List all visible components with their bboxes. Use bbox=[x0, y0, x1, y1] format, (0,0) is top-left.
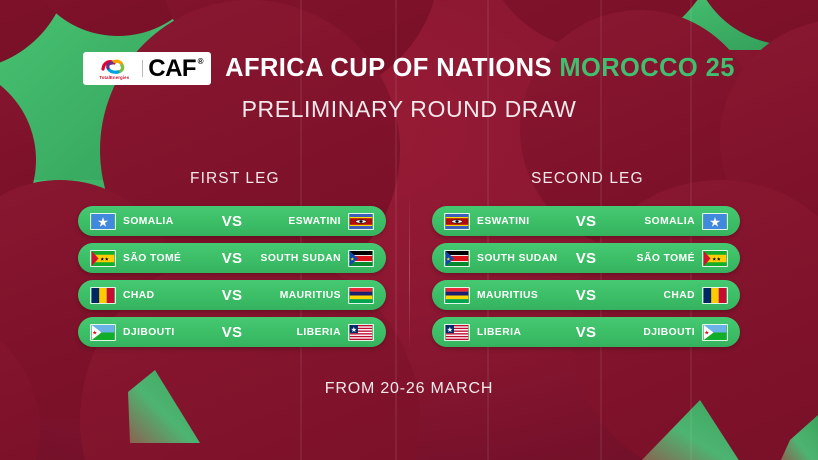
fixture-row[interactable]: MAURITIUS VS CHAD bbox=[432, 280, 740, 310]
home-side: SOMALIA bbox=[90, 213, 211, 230]
fixture-row[interactable]: SOUTH SUDAN VS SÃO TOMÉ bbox=[432, 243, 740, 273]
team-name: DJIBOUTI bbox=[123, 327, 175, 338]
vs-label: VS bbox=[565, 250, 607, 267]
second-leg-fixture-list: ESWATINI VS SOMALIA SOUTH SUDAN VS bbox=[432, 206, 740, 347]
home-side: SOUTH SUDAN bbox=[444, 250, 565, 267]
team-name: SÃO TOMÉ bbox=[123, 253, 181, 264]
vs-label: VS bbox=[565, 213, 607, 230]
acon-draw-graphic: TotalEnergies CAF® AFRICA CUP OF NATIONS… bbox=[0, 0, 818, 460]
first-leg-heading: FIRST LEG bbox=[190, 170, 280, 188]
sao-tome-flag bbox=[90, 250, 116, 267]
vs-label: VS bbox=[211, 250, 253, 267]
djibouti-flag bbox=[90, 324, 116, 341]
registered-trademark-icon: ® bbox=[198, 58, 203, 66]
away-side: SOUTH SUDAN bbox=[253, 250, 374, 267]
fixture-row[interactable]: LIBERIA VS DJIBOUTI bbox=[432, 317, 740, 347]
header: TotalEnergies CAF® AFRICA CUP OF NATIONS… bbox=[0, 52, 818, 85]
page-title: AFRICA CUP OF NATIONS MOROCCO 25 bbox=[225, 54, 735, 83]
south-sudan-flag bbox=[348, 250, 374, 267]
away-side: MAURITIUS bbox=[253, 287, 374, 304]
home-side: DJIBOUTI bbox=[90, 324, 211, 341]
vs-label: VS bbox=[565, 324, 607, 341]
team-name: DJIBOUTI bbox=[643, 327, 695, 338]
team-name: ESWATINI bbox=[477, 216, 530, 227]
column-divider bbox=[409, 198, 410, 348]
team-name: SÃO TOMÉ bbox=[637, 253, 695, 264]
team-name: LIBERIA bbox=[297, 327, 341, 338]
liberia-flag bbox=[444, 324, 470, 341]
logo-divider bbox=[142, 60, 143, 77]
team-name: SOMALIA bbox=[644, 216, 695, 227]
first-leg-fixture-list: SOMALIA VS ESWATINI SÃO TOMÉ VS bbox=[78, 206, 386, 347]
vs-label: VS bbox=[565, 287, 607, 304]
eswatini-flag bbox=[348, 213, 374, 230]
team-name: MAURITIUS bbox=[280, 290, 341, 301]
fixture-row[interactable]: SÃO TOMÉ VS SOUTH SUDAN bbox=[78, 243, 386, 273]
away-side: ESWATINI bbox=[253, 213, 374, 230]
sao-tome-flag bbox=[702, 250, 728, 267]
totalenergies-icon: TotalEnergies bbox=[91, 58, 137, 80]
dates-footer: FROM 20-26 MARCH bbox=[0, 380, 818, 398]
team-name: ESWATINI bbox=[288, 216, 341, 227]
fixture-row[interactable]: CHAD VS MAURITIUS bbox=[78, 280, 386, 310]
team-name: SOUTH SUDAN bbox=[477, 253, 557, 264]
fixture-row[interactable]: ESWATINI VS SOMALIA bbox=[432, 206, 740, 236]
liberia-flag bbox=[348, 324, 374, 341]
home-side: SÃO TOMÉ bbox=[90, 250, 211, 267]
djibouti-flag bbox=[702, 324, 728, 341]
home-side: LIBERIA bbox=[444, 324, 565, 341]
eswatini-flag bbox=[444, 213, 470, 230]
away-side: SÃO TOMÉ bbox=[607, 250, 728, 267]
chad-flag bbox=[702, 287, 728, 304]
chad-flag bbox=[90, 287, 116, 304]
home-side: ESWATINI bbox=[444, 213, 565, 230]
caf-totalenergies-logo: TotalEnergies CAF® bbox=[83, 52, 211, 85]
mauritius-flag bbox=[444, 287, 470, 304]
totalenergies-wordmark: TotalEnergies bbox=[99, 75, 129, 80]
fixture-row[interactable]: DJIBOUTI VS LIBERIA bbox=[78, 317, 386, 347]
team-name: SOUTH SUDAN bbox=[261, 253, 341, 264]
somalia-flag bbox=[702, 213, 728, 230]
vs-label: VS bbox=[211, 213, 253, 230]
away-side: CHAD bbox=[607, 287, 728, 304]
fixture-row[interactable]: SOMALIA VS ESWATINI bbox=[78, 206, 386, 236]
away-side: LIBERIA bbox=[253, 324, 374, 341]
second-leg-heading: SECOND LEG bbox=[531, 170, 644, 188]
team-name: CHAD bbox=[663, 290, 695, 301]
somalia-flag bbox=[90, 213, 116, 230]
title-competition: AFRICA CUP OF NATIONS bbox=[225, 54, 552, 82]
page-subtitle: PRELIMINARY ROUND DRAW bbox=[0, 96, 818, 123]
vs-label: VS bbox=[211, 287, 253, 304]
south-sudan-flag bbox=[444, 250, 470, 267]
away-side: SOMALIA bbox=[607, 213, 728, 230]
title-host-year: MOROCCO 25 bbox=[559, 54, 734, 82]
caf-label: CAF bbox=[148, 55, 196, 82]
team-name: CHAD bbox=[123, 290, 155, 301]
home-side: MAURITIUS bbox=[444, 287, 565, 304]
team-name: MAURITIUS bbox=[477, 290, 538, 301]
team-name: SOMALIA bbox=[123, 216, 174, 227]
mauritius-flag bbox=[348, 287, 374, 304]
home-side: CHAD bbox=[90, 287, 211, 304]
caf-wordmark: CAF® bbox=[148, 57, 203, 81]
vs-label: VS bbox=[211, 324, 253, 341]
away-side: DJIBOUTI bbox=[607, 324, 728, 341]
team-name: LIBERIA bbox=[477, 327, 521, 338]
